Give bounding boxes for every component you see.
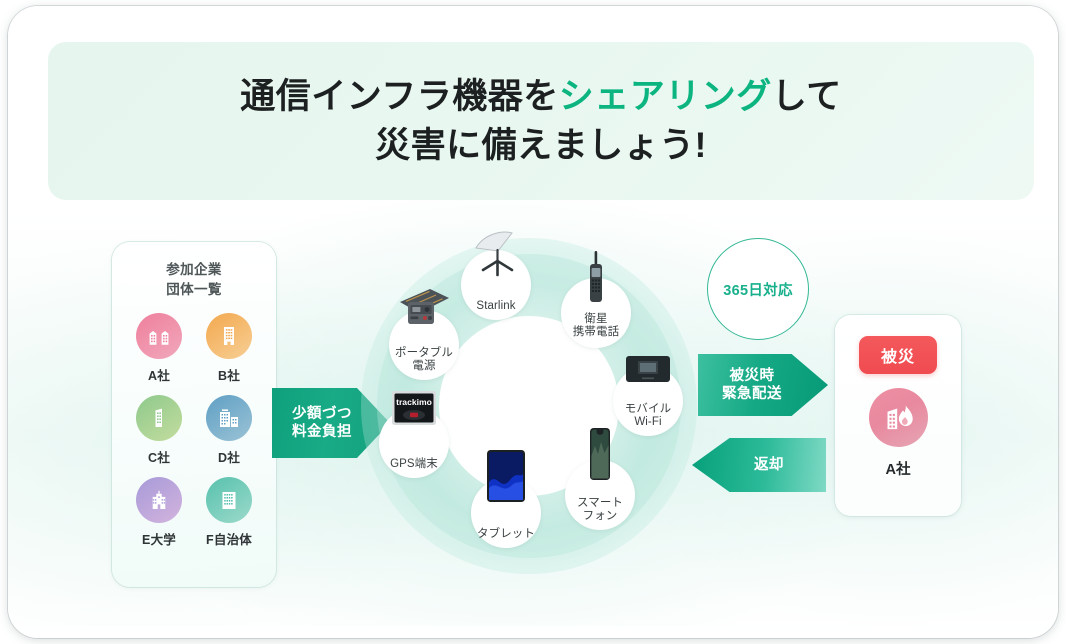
participant-f-circle xyxy=(206,477,252,523)
office-building-icon xyxy=(217,324,241,348)
participant-d-label: D社 xyxy=(218,447,240,466)
headline-highlight: シェアリング xyxy=(559,77,772,116)
device-smartphone-label: スマート フォン xyxy=(577,497,623,524)
tower-building-icon xyxy=(147,406,171,430)
participant-f-label: F自治体 xyxy=(206,529,252,548)
infographic-page: 通信インフラ機器をシェアリングして 災害に備えましょう! 参加企業 団体一覧 A… xyxy=(0,0,1066,644)
participant-e-label: E大学 xyxy=(142,529,176,548)
satellite-dish-icon xyxy=(468,226,524,278)
headline-prefix: 通信インフラ機器を xyxy=(240,77,558,116)
participants-grid: A社 B社 C社 xyxy=(112,313,276,548)
main-card: 通信インフラ機器をシェアリングして 災害に備えましょう! 参加企業 団体一覧 A… xyxy=(8,6,1058,638)
participants-title: 参加企業 団体一覧 xyxy=(112,260,276,299)
participant-c-circle xyxy=(136,395,182,441)
participant-a[interactable]: A社 xyxy=(124,313,194,384)
affected-company-circle xyxy=(869,388,928,447)
tablet-icon xyxy=(478,448,534,504)
smartphone-icon xyxy=(572,426,628,484)
arrow-emergency-delivery: 被災時 緊急配送 xyxy=(698,354,828,416)
device-portable-power-label: ポータブル 電源 xyxy=(395,347,453,374)
participant-c[interactable]: C社 xyxy=(124,395,194,466)
participant-e[interactable]: E大学 xyxy=(124,477,194,548)
mobile-router-icon xyxy=(620,344,676,388)
device-starlink-label: Starlink xyxy=(476,300,515,314)
svg-text:trackimo: trackimo xyxy=(396,397,432,407)
twin-office-building-icon xyxy=(147,324,171,348)
device-smartphone[interactable]: スマート フォン xyxy=(565,460,635,530)
headline-line-1: 通信インフラ機器をシェアリングして xyxy=(240,77,841,116)
arrow-return: 返却 xyxy=(692,438,826,492)
device-starlink[interactable]: Starlink xyxy=(461,250,531,320)
affected-company-card: 被災 A社 xyxy=(835,315,961,516)
participant-b[interactable]: B社 xyxy=(194,313,264,384)
device-tablet-label: タブレット xyxy=(477,528,535,542)
headline-line-2: 災害に備えましょう! xyxy=(375,126,707,165)
affected-company-label: A社 xyxy=(886,458,911,479)
participant-a-label: A社 xyxy=(148,365,170,384)
gps-tracker-icon: trackimo xyxy=(386,384,442,430)
device-ring: Starlink 衛星 xyxy=(361,238,697,574)
participant-b-circle xyxy=(206,313,252,359)
participant-d[interactable]: D社 xyxy=(194,395,264,466)
university-icon xyxy=(147,488,171,512)
device-gps-tracker-label: GPS端末 xyxy=(390,458,438,472)
civic-building-icon xyxy=(217,488,241,512)
headline-suffix: して xyxy=(772,77,842,116)
headline-banner: 通信インフラ機器をシェアリングして 災害に備えましょう! xyxy=(48,42,1034,200)
device-satellite-phone-label: 衛星 携帯電話 xyxy=(573,313,619,342)
participant-a-circle xyxy=(136,313,182,359)
participant-b-label: B社 xyxy=(218,365,240,384)
participant-d-circle xyxy=(206,395,252,441)
satellite-phone-icon xyxy=(568,250,624,304)
support-365-badge: 365日対応 xyxy=(707,238,809,340)
participants-panel: 参加企業 団体一覧 A社 B社 xyxy=(112,242,276,587)
participant-e-circle xyxy=(136,477,182,523)
device-tablet[interactable]: タブレット xyxy=(471,478,541,548)
participant-c-label: C社 xyxy=(148,447,170,466)
device-mobile-wifi-label: モバイル Wi-Fi xyxy=(625,403,671,430)
device-portable-power[interactable]: ポータブル 電源 xyxy=(389,310,459,380)
wide-office-building-icon xyxy=(217,406,241,430)
burning-building-icon xyxy=(883,402,914,433)
device-satellite-phone[interactable]: 衛星 携帯電話 xyxy=(561,278,631,348)
portable-power-icon xyxy=(396,284,452,334)
device-gps-tracker[interactable]: trackimo GPS端末 xyxy=(379,408,449,478)
status-badge-disaster: 被災 xyxy=(859,336,937,374)
participant-f[interactable]: F自治体 xyxy=(194,477,264,548)
